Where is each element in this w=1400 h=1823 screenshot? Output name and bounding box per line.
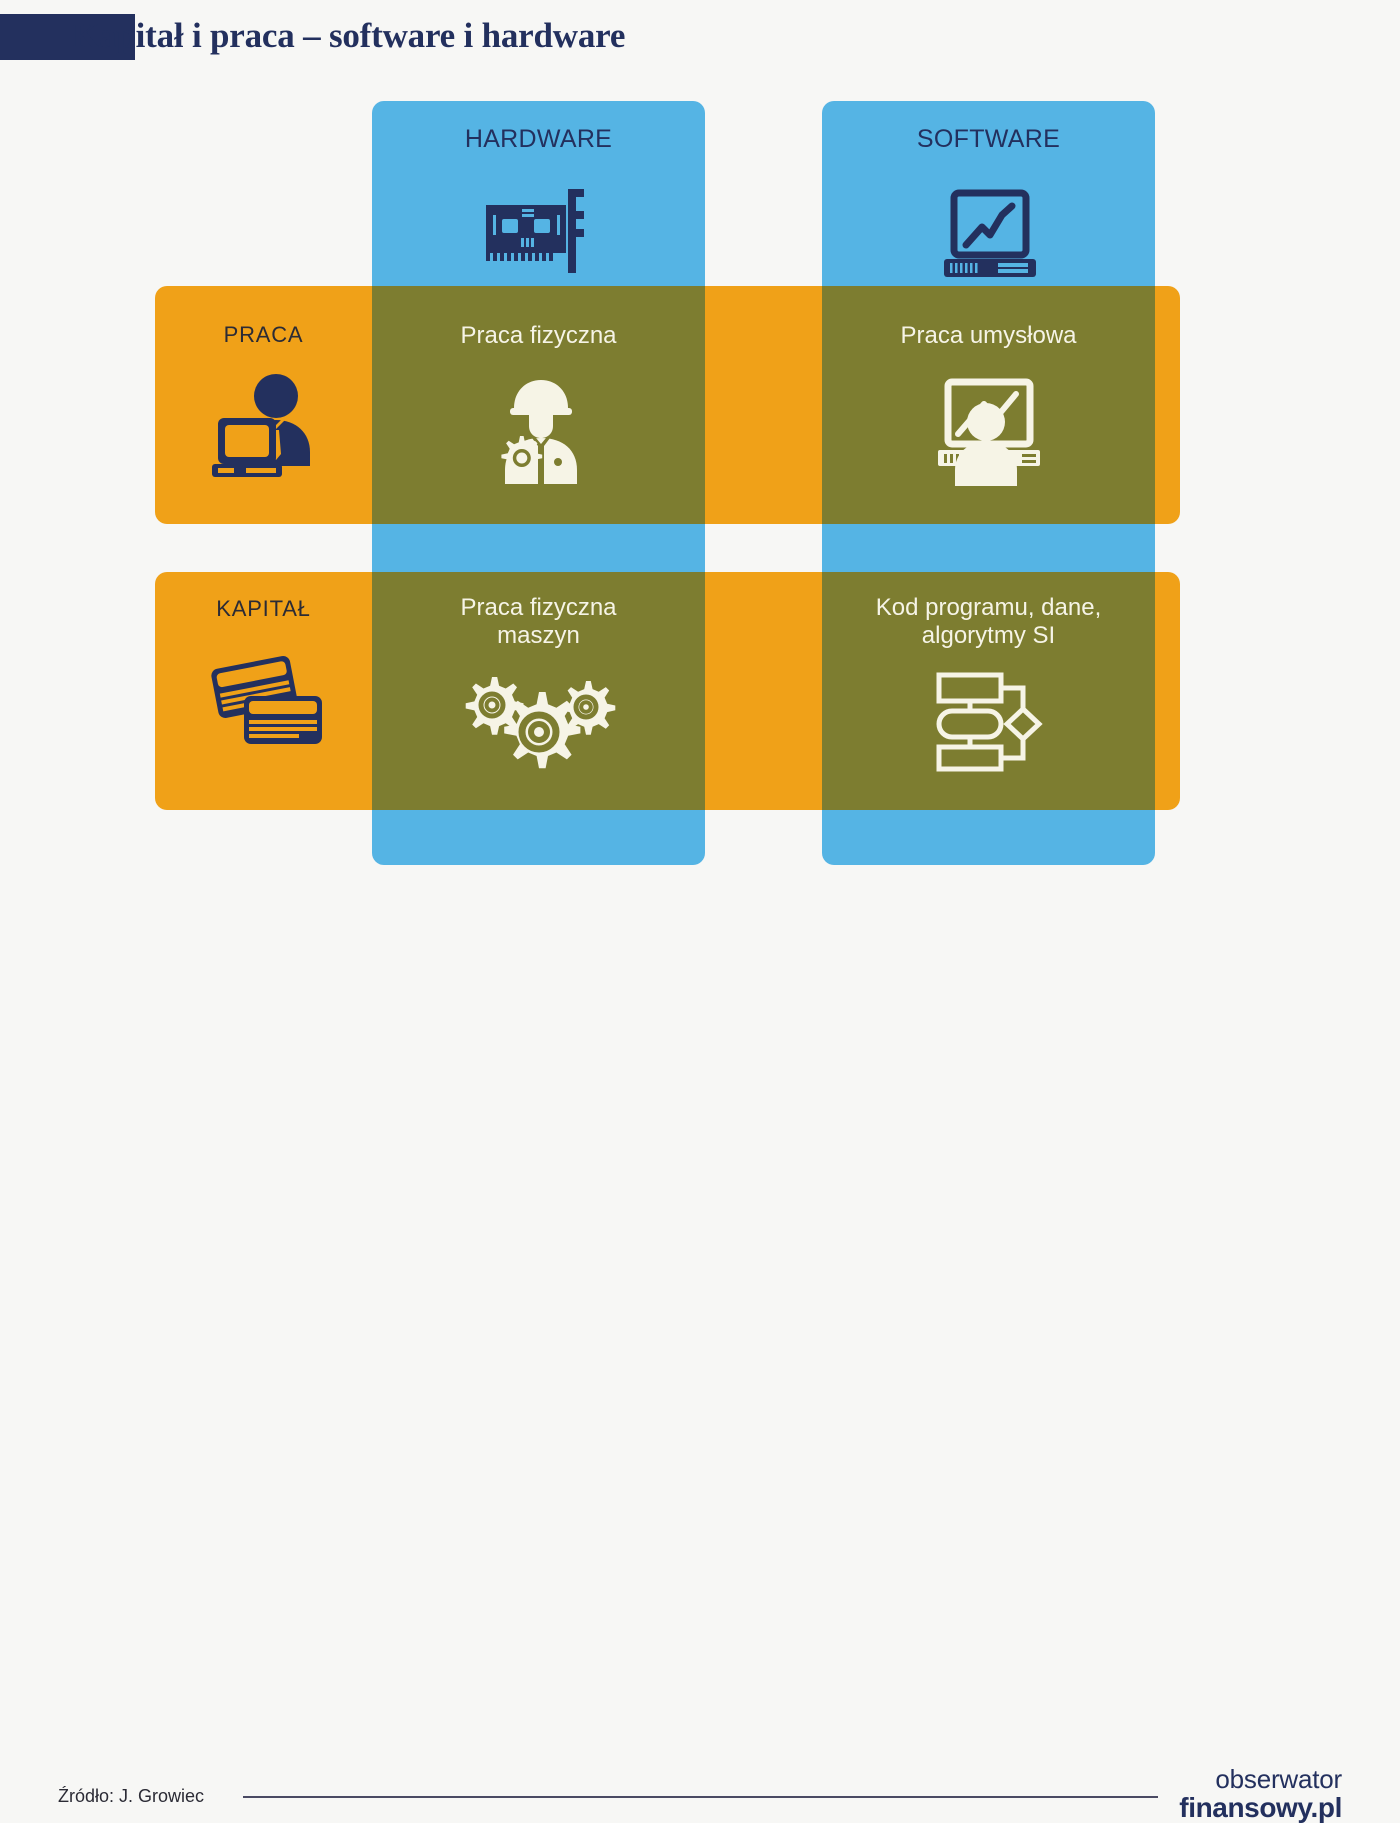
obserwator-finansowy-logo: obserwator finansowy.pl: [1179, 1766, 1342, 1822]
flowchart-icon: [931, 667, 1047, 778]
laptop-chart-icon: [930, 181, 1048, 286]
row-header-praca-label: PRACA: [224, 322, 304, 348]
column-header-software-label: SOFTWARE: [917, 125, 1060, 155]
row-header-kapital-label: KAPITAŁ: [216, 596, 310, 622]
cell-kapital-hardware-label: Praca fizyczna maszyn: [460, 594, 616, 651]
construction-worker-gear-icon: [474, 374, 604, 494]
credit-cards-icon: [202, 644, 326, 761]
row-header-praca: PRACA: [155, 322, 372, 485]
logo-line-one: obserwator: [1179, 1766, 1342, 1792]
expansion-card-icon: [480, 181, 598, 282]
three-gears-icon: [454, 667, 624, 780]
matrix-diagram: HARDWARE: [0, 0, 1400, 880]
source-label: Źródło: J. Growiec: [58, 1786, 204, 1807]
cell-praca-hardware-label: Praca fizyczna: [460, 322, 616, 350]
cell-praca-hardware: Praca fizyczna: [372, 322, 705, 494]
cell-praca-software: Praca umysłowa: [822, 322, 1155, 493]
person-monitor-check-icon: [926, 374, 1052, 493]
column-header-hardware-label: HARDWARE: [465, 125, 612, 155]
column-header-software: SOFTWARE: [822, 125, 1155, 286]
footer: Źródło: J. Growiec obserwator finansowy.…: [0, 880, 1400, 967]
cell-praca-software-label: Praca umysłowa: [900, 322, 1076, 350]
footer-divider: [243, 1796, 1158, 1798]
column-header-hardware: HARDWARE: [372, 125, 705, 282]
businessman-computer-icon: [204, 370, 324, 485]
logo-line-two: finansowy.pl: [1179, 1794, 1342, 1822]
cell-kapital-hardware: Praca fizyczna maszyn: [372, 594, 705, 780]
cell-kapital-software-label: Kod programu, dane, algorytmy SI: [876, 594, 1101, 651]
row-header-kapital: KAPITAŁ: [155, 596, 372, 761]
cell-kapital-software: Kod programu, dane, algorytmy SI: [822, 594, 1155, 778]
